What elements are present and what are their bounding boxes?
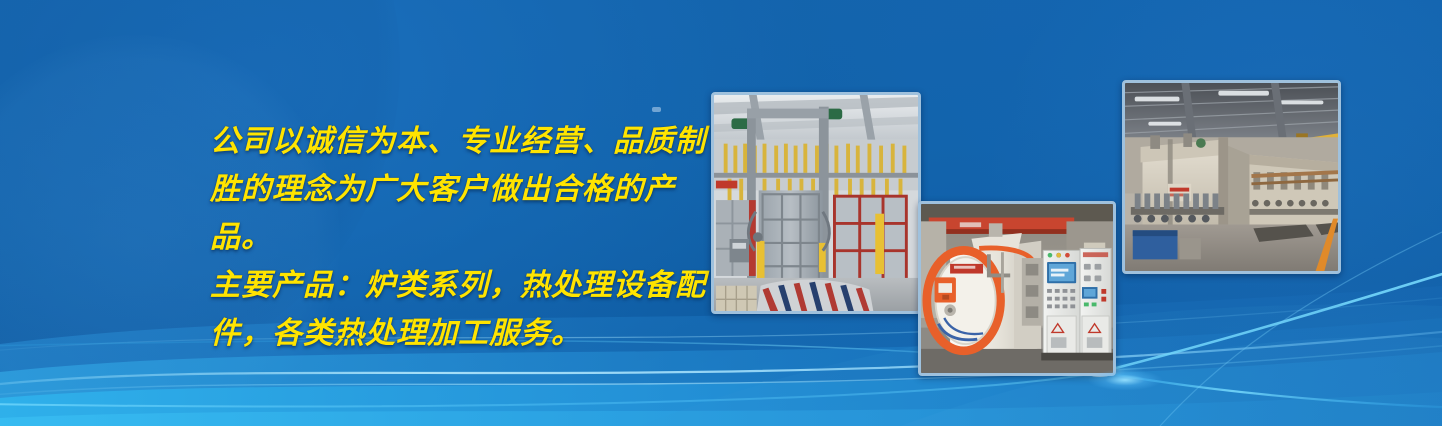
photo-furnace-line[interactable] [1122,80,1341,274]
furnace-line-illustration [1125,83,1338,271]
company-banner: 公司以诚信为本、专业经营、品质制 胜的理念为广大客户做出合格的产品。 主要产品：… [0,0,1442,426]
photo-vacuum-furnace[interactable] [918,201,1116,376]
furnace-bell-illustration [714,95,918,311]
photo-furnace-bell[interactable] [711,92,921,314]
vacuum-furnace-illustration [921,204,1113,373]
banner-headline: 公司以诚信为本、专业经营、品质制 胜的理念为广大客户做出合格的产品。 主要产品：… [210,118,730,358]
light-speck-artifact [652,107,661,112]
